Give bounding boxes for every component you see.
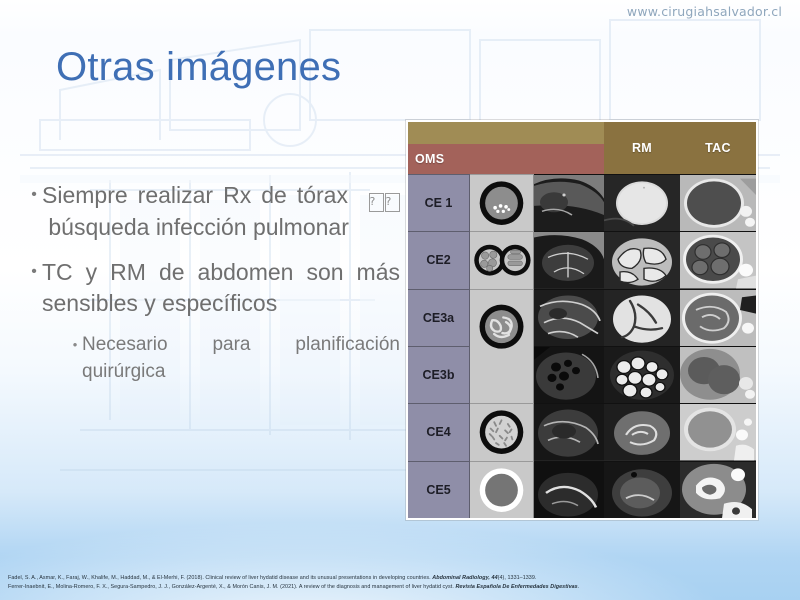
diagram-cell-ce1 (470, 174, 534, 231)
ct-image-ce2 (680, 231, 756, 288)
ct-image-ce5 (680, 461, 756, 518)
stage-label: CE2 (426, 253, 450, 267)
diagram-cell-ce5 (470, 461, 534, 518)
stage-label: CE3a (423, 311, 454, 325)
ultrasound-image-ce1 (534, 174, 604, 231)
ct-scan-icon (680, 347, 756, 403)
multivesicular-rosette-icon (470, 232, 533, 288)
classification-grid: RM TAC OMS CE 1 (408, 122, 756, 518)
sub-bullet-text: Necesario para planificación quirúrgica (82, 331, 400, 385)
reference-line-1: Fadel, S. A., Asmar, K., Faraj, W., Khal… (8, 574, 792, 583)
mri-image-ce3b (604, 346, 680, 403)
bullet-text: Siempre realizar Rx de tórax ?? búsqueda… (42, 180, 400, 243)
reference-2-journal: Revista Española De Enfermedades Digesti… (455, 584, 577, 590)
table-row: CE 1 (408, 174, 470, 231)
bullet-marker: • (26, 180, 42, 210)
ultrasound-image-ce3a (534, 289, 604, 346)
header-tan-strip (408, 122, 604, 144)
site-url-label: www.cirugiahsalvador.cl (627, 4, 782, 19)
missing-glyph-icon: ? (369, 193, 384, 212)
calcified-thick-wall-icon (470, 462, 533, 518)
slide-canvas: www.cirugiahsalvador.cl Otras imágenes •… (0, 0, 800, 600)
ultrasound-image-ce3b (534, 346, 604, 403)
sub-bullet-marker: • (68, 331, 82, 358)
stage-label: CE3b (423, 368, 455, 382)
sub-list-item: • Necesario para planificación quirúrgic… (68, 331, 400, 385)
diagram-cell-ce3 (470, 289, 534, 404)
column-header-oms-label: OMS (408, 144, 604, 174)
reference-2-text: Ferrer-Inaebnit, E., Molina-Romero, F. X… (8, 584, 455, 590)
references-footer: Fadel, S. A., Asmar, K., Faraj, W., Khal… (8, 574, 792, 592)
bullet-text: TC y RM de abdomen son más sensibles y e… (42, 257, 400, 319)
column-header-rm: RM (604, 122, 680, 174)
missing-glyph-icon: ? (385, 193, 400, 212)
mri-scan-icon (604, 347, 680, 403)
ultrasound-image-ce5 (534, 461, 604, 518)
reference-1-journal: Abdominal Radiology, 44 (432, 575, 497, 581)
reference-1-pages: (4), 1331–1339. (498, 575, 537, 581)
ultrasound-scan-icon (534, 175, 604, 231)
mri-image-ce3a (604, 289, 680, 346)
reference-2-end: . (578, 584, 580, 590)
ct-scan-icon (680, 175, 756, 231)
ct-scan-icon (680, 232, 756, 288)
cyst-anechoic-with-sand-icon (470, 175, 533, 231)
mri-scan-icon (604, 462, 680, 518)
ultrasound-image-ce2 (534, 231, 604, 288)
ultrasound-scan-icon (534, 462, 604, 518)
column-header-tac: TAC (680, 122, 756, 174)
mri-image-ce4 (604, 403, 680, 460)
column-header-tac-label: TAC (680, 122, 756, 174)
column-header-oms: OMS (408, 144, 604, 174)
diagram-cell-ce2 (470, 231, 534, 288)
ct-scan-icon (680, 462, 756, 518)
table-row: CE5 (408, 461, 470, 518)
ultrasound-scan-icon (534, 404, 604, 460)
reference-1-text: Fadel, S. A., Asmar, K., Faraj, W., Khal… (8, 575, 432, 581)
bullet-list: • Siempre realizar Rx de tórax ?? búsque… (26, 180, 400, 385)
mri-scan-icon (604, 175, 680, 231)
ultrasound-scan-icon (534, 232, 604, 288)
ct-scan-icon (680, 404, 756, 460)
list-item: • Siempre realizar Rx de tórax ?? búsque… (26, 180, 400, 243)
bullet-text-after: búsqueda infección pulmonar (48, 214, 348, 240)
heterogeneous-degenerative-icon (470, 404, 533, 460)
ct-image-ce1 (680, 174, 756, 231)
ultrasound-scan-icon (534, 290, 604, 346)
list-item: • TC y RM de abdomen son más sensibles y… (26, 257, 400, 319)
mri-image-ce1 (604, 174, 680, 231)
table-row: CE3b (408, 346, 470, 403)
stage-label: CE 1 (425, 196, 453, 210)
page-title: Otras imágenes (56, 46, 341, 88)
table-row: CE4 (408, 403, 470, 460)
ct-image-ce3a (680, 289, 756, 346)
mri-scan-icon (604, 290, 680, 346)
diagram-cell-ce4 (470, 403, 534, 460)
table-row: CE2 (408, 231, 470, 288)
stage-label: CE4 (426, 425, 450, 439)
ultrasound-image-ce4 (534, 403, 604, 460)
mri-scan-icon (604, 232, 680, 288)
ct-image-ce3b (680, 346, 756, 403)
column-header-rm-label: RM (604, 122, 680, 174)
table-row: CE3a (408, 289, 470, 346)
detached-membranes-waterlily-icon (470, 290, 533, 404)
bullet-marker: • (26, 257, 42, 287)
figure-who-classification-table: RM TAC OMS CE 1 (406, 120, 758, 520)
ct-image-ce4 (680, 403, 756, 460)
mri-image-ce2 (604, 231, 680, 288)
bullet-text-before: Siempre realizar Rx de tórax (42, 182, 348, 208)
ultrasound-scan-icon (534, 347, 604, 403)
stage-label: CE5 (426, 483, 450, 497)
ct-scan-icon (680, 290, 756, 346)
mri-scan-icon (604, 404, 680, 460)
mri-image-ce5 (604, 461, 680, 518)
reference-line-2: Ferrer-Inaebnit, E., Molina-Romero, F. X… (8, 583, 792, 592)
